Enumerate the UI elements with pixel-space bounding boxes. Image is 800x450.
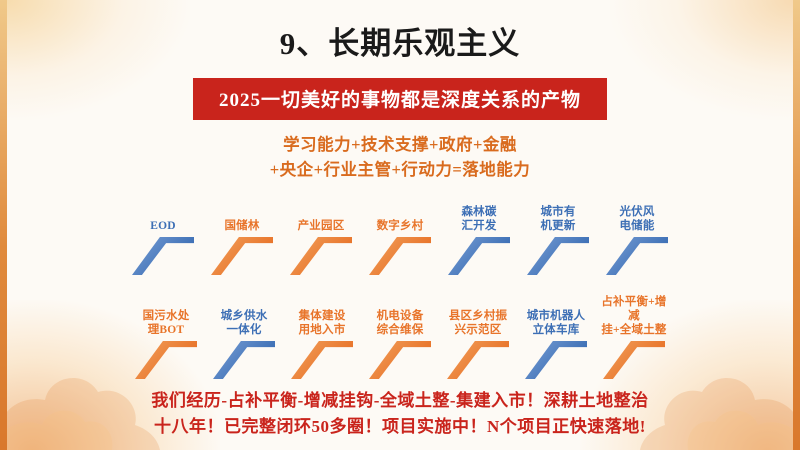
business-arrow-label: 光伏风 电储能 [619, 205, 654, 233]
business-arrow-item[interactable]: 森林碳 汇开发 [445, 205, 513, 275]
arrow-icon [448, 237, 510, 275]
business-arrow-item[interactable]: 城乡供水 一体化 [210, 309, 278, 379]
business-arrow-label: 森林碳 汇开发 [461, 205, 496, 233]
page-title: 9、长期乐观主义 [0, 18, 800, 63]
arrow-icon [135, 341, 197, 379]
arrow-icon [525, 341, 587, 379]
business-arrow-item[interactable]: 国污水处 理BOT [132, 309, 200, 379]
business-arrow-label: 国储林 [224, 219, 259, 233]
conclusion-line-2: 十八年！已完整闭环50多圈！项目实施中！N个项目正快速落地! [0, 414, 800, 440]
business-arrow-label: 产业园区 [298, 219, 345, 233]
business-arrow-item[interactable]: 产业园区 [287, 219, 355, 275]
headline-banner: 2025一切美好的事物都是深度关系的产物 [193, 78, 607, 120]
slide-canvas: 9、长期乐观主义 2025一切美好的事物都是深度关系的产物 学习能力+技术支撑+… [0, 0, 800, 450]
business-arrow-item[interactable]: 占补平衡+增减 挂+全域土整 [600, 295, 668, 379]
business-arrow-item[interactable]: 城市有 机更新 [524, 205, 592, 275]
capability-formula: 学习能力+技术支撑+政府+金融 +央企+行业主管+行动力=落地能力 [165, 132, 635, 182]
arrow-icon [369, 341, 431, 379]
business-arrow-label: 数字乡村 [377, 219, 424, 233]
business-arrow-label: 城市有 机更新 [540, 205, 575, 233]
business-arrow-label: 国污水处 理BOT [143, 309, 190, 337]
business-arrow-item[interactable]: 数字乡村 [366, 219, 434, 275]
business-arrow-item[interactable]: 国储林 [208, 219, 276, 275]
arrow-icon [527, 237, 589, 275]
business-arrow-item[interactable]: 机电设备 综合维保 [366, 309, 434, 379]
formula-line-2: +央企+行业主管+行动力=落地能力 [165, 157, 635, 182]
arrow-icon [291, 341, 353, 379]
business-arrow-row-1: EOD国储林产业园区数字乡村森林碳 汇开发城市有 机更新光伏风 电储能 [0, 205, 800, 275]
business-arrow-label: 城市机器人 立体车库 [527, 309, 586, 337]
business-arrow-item[interactable]: 县区乡村振 兴示范区 [444, 309, 512, 379]
business-arrow-label: 城乡供水 一体化 [221, 309, 268, 337]
business-arrow-item[interactable]: 光伏风 电储能 [603, 205, 671, 275]
business-arrow-label: EOD [150, 219, 176, 233]
arrow-icon [603, 341, 665, 379]
arrow-icon [211, 237, 273, 275]
business-arrow-label: 集体建设 用地入市 [299, 309, 346, 337]
formula-line-1: 学习能力+技术支撑+政府+金融 [165, 132, 635, 157]
arrow-icon [290, 237, 352, 275]
business-arrow-item[interactable]: 集体建设 用地入市 [288, 309, 356, 379]
business-arrow-row-2: 国污水处 理BOT城乡供水 一体化集体建设 用地入市机电设备 综合维保县区乡村振… [0, 295, 800, 379]
business-arrow-label: 县区乡村振 兴示范区 [449, 309, 508, 337]
arrow-icon [132, 237, 194, 275]
business-arrow-label: 机电设备 综合维保 [377, 309, 424, 337]
arrow-icon [213, 341, 275, 379]
business-arrow-item[interactable]: EOD [129, 219, 197, 275]
conclusion-text: 我们经历-占补平衡-增减挂钩-全域土整-集建入市！深耕土地整治 十八年！已完整闭… [0, 388, 800, 440]
arrow-icon [447, 341, 509, 379]
business-arrow-item[interactable]: 城市机器人 立体车库 [522, 309, 590, 379]
arrow-icon [369, 237, 431, 275]
business-arrow-label: 占补平衡+增减 挂+全域土整 [600, 295, 668, 337]
arrow-icon [606, 237, 668, 275]
conclusion-line-1: 我们经历-占补平衡-增减挂钩-全域土整-集建入市！深耕土地整治 [0, 388, 800, 414]
